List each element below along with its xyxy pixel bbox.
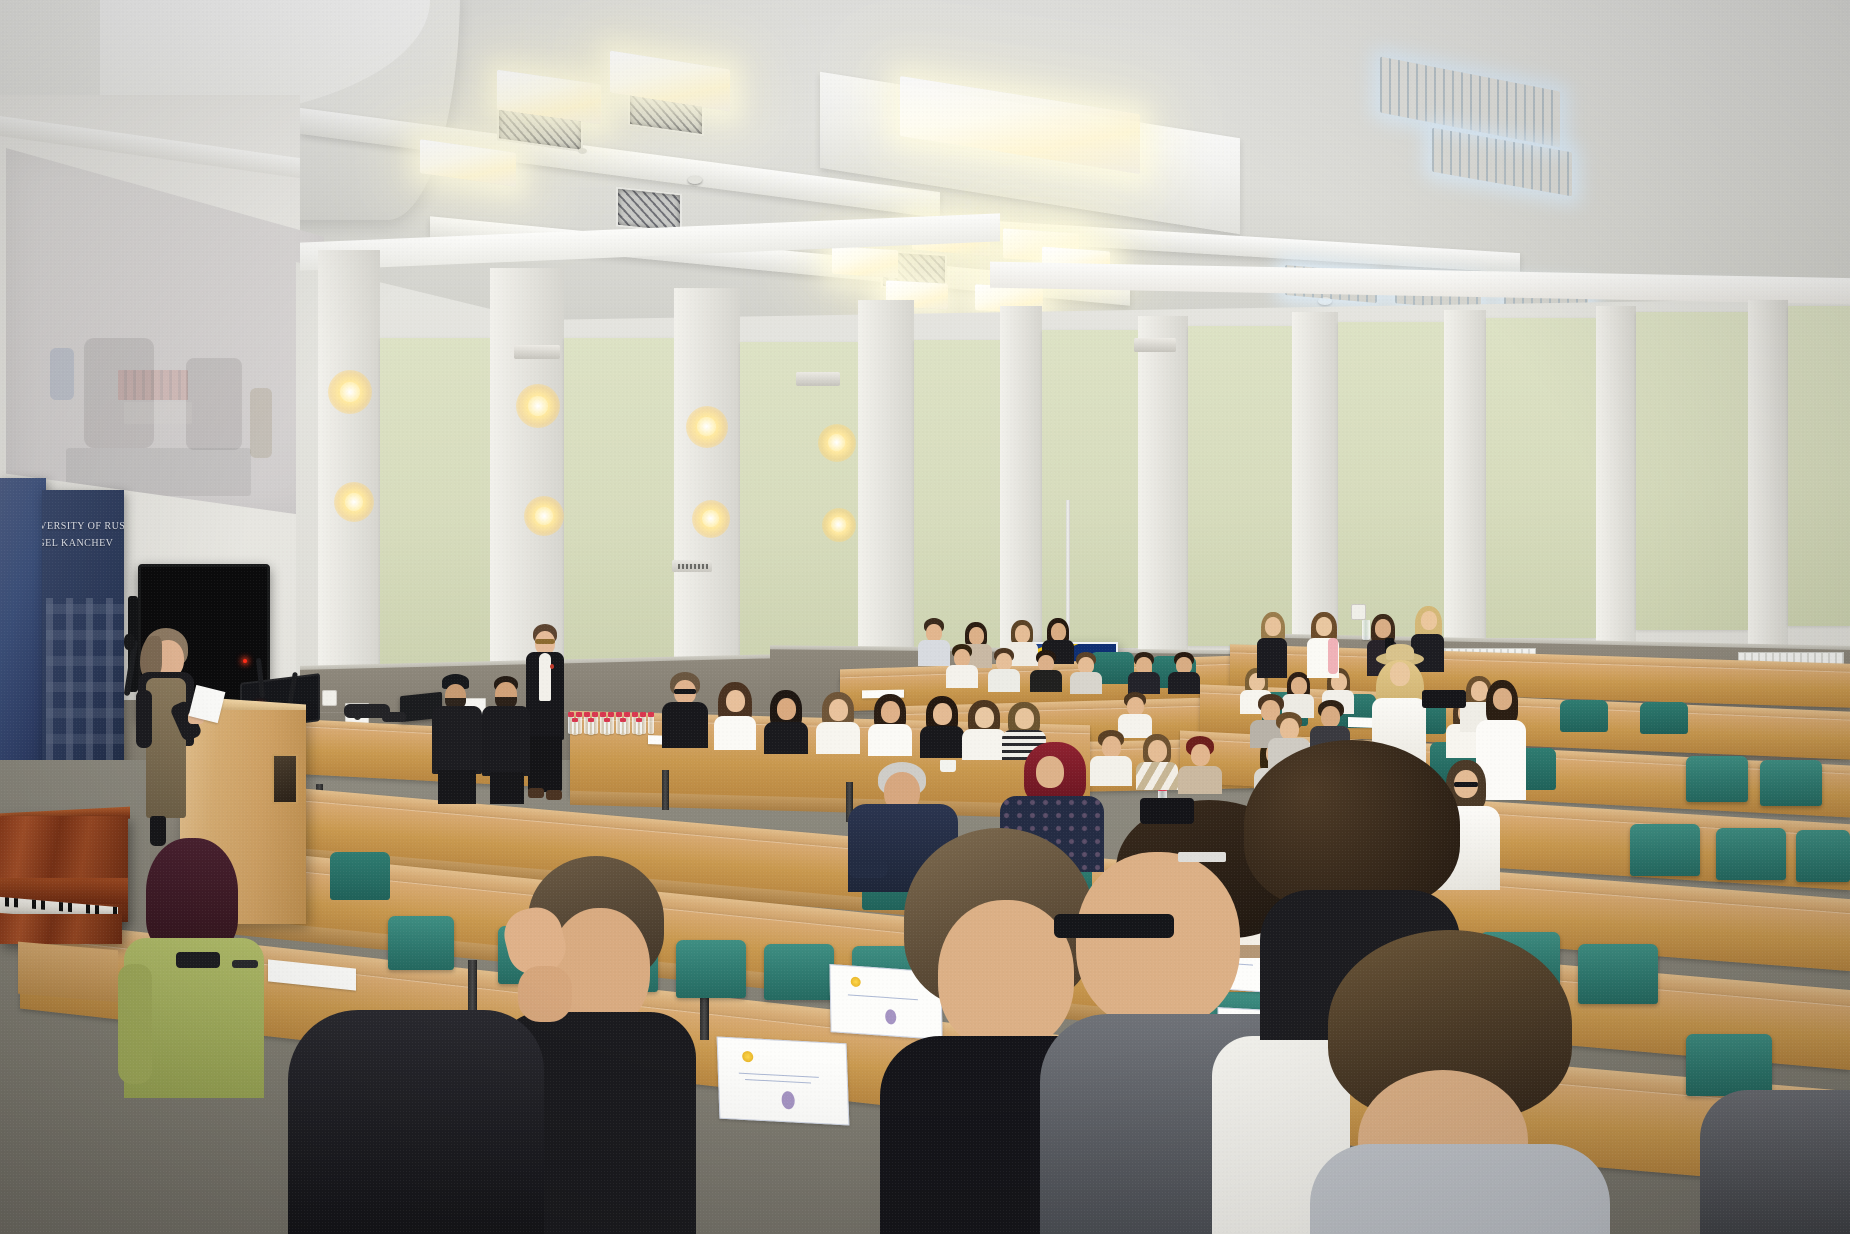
auditorium-seat: [1686, 756, 1748, 802]
eyeglasses-on-desk: [176, 952, 220, 968]
seated-technician-beard: [482, 676, 532, 804]
auditorium-seat: [1686, 1034, 1772, 1096]
blouse-sleeve: [118, 964, 152, 1084]
monitor-power-led: [243, 659, 247, 663]
auditorium-seat: [1796, 830, 1850, 882]
audience-person: [1070, 652, 1104, 694]
wall-sconce-core: [702, 510, 719, 527]
ceiling-speaker: [796, 372, 840, 386]
smoke-detector-icon: [688, 176, 702, 184]
trousers: [438, 770, 476, 804]
audience-person: [1030, 650, 1064, 692]
wall-panel-green: [740, 342, 858, 670]
wall-sconce-core: [340, 382, 360, 402]
wall-panel-green: [1788, 306, 1850, 626]
seated-technician-cap: [432, 674, 484, 804]
standing-woman: [1256, 612, 1290, 678]
lecture-hall-photo: UNIVERSITY OF RUSE ANGEL KANCHEV Univers…: [0, 0, 1850, 1234]
wall-socket: [1351, 604, 1366, 620]
auditorium-seat: [764, 944, 834, 1000]
shoe: [546, 790, 562, 800]
water-bottle-row: [568, 712, 664, 734]
white-top: [816, 722, 860, 754]
auditorium-seat: [1640, 702, 1688, 734]
ceiling-lamp: [832, 246, 898, 279]
audience-person: [946, 644, 980, 688]
white-top: [714, 716, 756, 750]
desk-leg: [662, 770, 669, 810]
seated-woman-green-blouse: [118, 838, 268, 1098]
black-top: [920, 726, 964, 758]
audience-person: [1168, 652, 1202, 694]
auditorium-seat: [1630, 824, 1700, 876]
black-top: [1257, 638, 1287, 678]
auditorium-seat: [1760, 760, 1822, 806]
sunglasses-icon: [535, 639, 555, 644]
lectern-emblem-plate: [272, 754, 298, 804]
wall-panel-green: [380, 338, 490, 668]
wall-pilaster: [1596, 306, 1636, 658]
wall-pilaster: [1748, 300, 1788, 650]
foreground-person-bottom-left: [288, 1010, 544, 1234]
light-top: [1070, 672, 1102, 694]
black-top: [1128, 672, 1160, 694]
black-top: [662, 702, 708, 748]
ceiling-speaker: [514, 345, 560, 359]
wall-pilaster: [490, 268, 564, 676]
bag: [1422, 690, 1466, 708]
suit-trousers: [528, 736, 562, 792]
wall-speaker-grille: [678, 564, 708, 569]
tablet-device: [1178, 852, 1226, 862]
pink-scarf: [1328, 638, 1338, 674]
wall-panel-green: [1338, 322, 1444, 640]
black-top: [1030, 670, 1062, 692]
wall-sconce-core: [528, 396, 548, 416]
black-top: [1168, 672, 1200, 694]
cable-bundle: [382, 712, 406, 722]
audience-person: [712, 682, 758, 750]
ceiling-speaker: [1134, 338, 1176, 352]
speaker-at-lectern: [126, 628, 216, 858]
auditorium-seat: [1560, 700, 1608, 732]
black-jacket: [482, 706, 530, 776]
wall-sconce-core: [345, 493, 363, 511]
piano-lower-panel: [0, 914, 122, 944]
speaker-dress: [146, 678, 186, 818]
wall-pilaster: [858, 300, 914, 680]
audience-person: [918, 696, 966, 758]
black-top: [764, 722, 808, 754]
wall-panel-green: [1636, 312, 1748, 630]
trousers: [490, 772, 524, 804]
ceiling-fixture-dot: [578, 148, 587, 154]
dark-clothing: [288, 1010, 544, 1234]
wall-pilaster: [674, 288, 740, 676]
wall-pilaster: [318, 250, 380, 680]
light-top: [1310, 1144, 1610, 1234]
light-top: [988, 669, 1020, 692]
audience-person: [662, 672, 710, 748]
standing-woman: [1306, 612, 1342, 678]
speaker-sleeve: [136, 690, 152, 748]
auditorium-seat: [330, 852, 390, 900]
desk-leg: [468, 960, 477, 1012]
wall-pilaster: [1138, 316, 1188, 666]
patterned-top: [1136, 762, 1178, 790]
wall-panel-green: [564, 338, 674, 668]
audience-person: [762, 690, 810, 754]
audience-person: [1128, 652, 1162, 694]
glasses-icon: [674, 689, 696, 694]
audience-person: [988, 648, 1022, 692]
beige-top: [1178, 766, 1222, 794]
certificate-sheet: [717, 1036, 850, 1125]
audience-person: [866, 694, 914, 756]
wall-pilaster: [1444, 310, 1486, 666]
audience-person: [1136, 734, 1180, 790]
pen: [232, 960, 258, 968]
bag: [1140, 798, 1194, 824]
wall-socket: [322, 690, 337, 706]
wall-panel-green: [1486, 318, 1596, 638]
lapel-pin: [550, 664, 554, 669]
audience-person: [814, 692, 862, 754]
wall-sconce-core: [828, 434, 845, 451]
foreground-person-bottom-right: [1700, 1090, 1850, 1234]
white-top: [868, 724, 912, 756]
wall-sconce-core: [535, 507, 553, 525]
wall-panel-green: [1188, 326, 1292, 646]
grey-clothing: [1700, 1090, 1850, 1234]
auditorium-seat: [388, 916, 454, 970]
wall-sconce-core: [697, 417, 716, 436]
black-jacket: [432, 706, 482, 774]
wall-sconce-core: [831, 517, 846, 532]
wall-panel-green: [1042, 330, 1138, 648]
rollup-banner-line1: UNIVERSITY OF RUSE: [42, 521, 124, 532]
glasses-icon: [1054, 914, 1174, 938]
white-top: [946, 665, 978, 688]
audience-person: [1178, 736, 1224, 794]
auditorium-seat: [1716, 828, 1786, 880]
foreground-student-right: [1310, 930, 1610, 1234]
rollup-banner-line2: ANGEL KANCHEV: [42, 538, 113, 549]
piano-bench: [18, 942, 118, 1003]
